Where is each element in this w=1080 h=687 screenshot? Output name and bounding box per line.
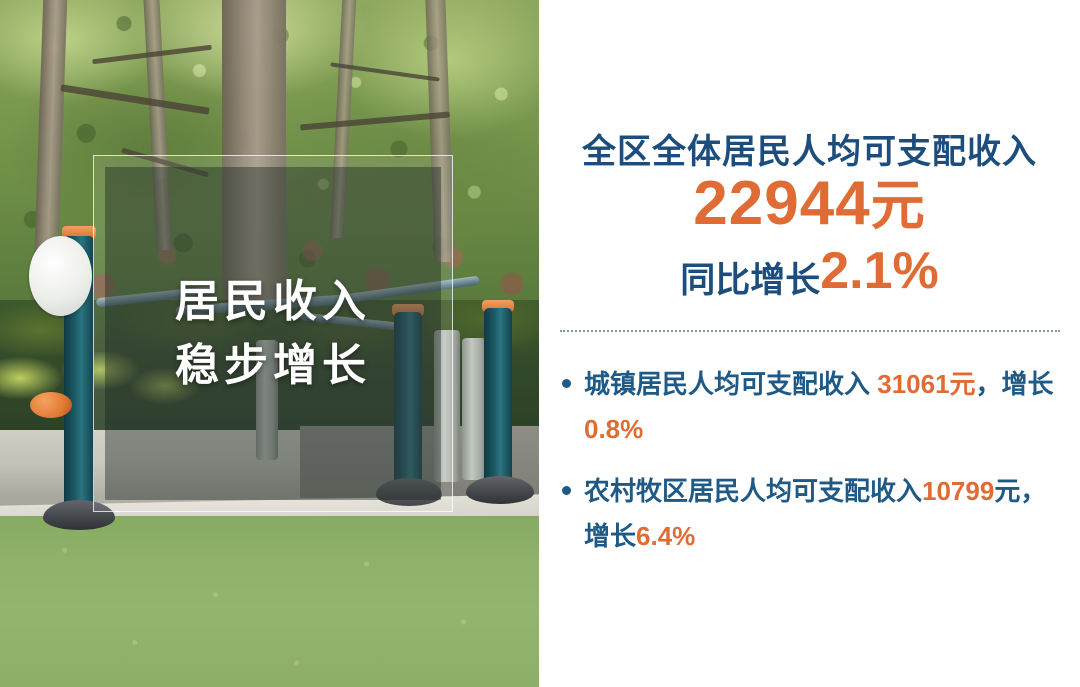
caption-text-block: 居民收入 稳步增长 [105, 167, 441, 500]
growth-label: 同比增长 [680, 261, 820, 300]
equipment-wheel [29, 236, 92, 316]
turf-texture [0, 516, 539, 687]
growth-line: 同比增长2.1% [539, 244, 1080, 300]
bullet-value-primary: 31061元 [877, 369, 975, 399]
bullet-text-mid: ，增长 [976, 369, 1054, 399]
panel-headline: 全区全体居民人均可支配收入 [539, 124, 1080, 173]
bullet-dot-icon [562, 379, 571, 388]
stats-panel: 全区全体居民人均可支配收入 22944元 同比增长2.1% 城镇居民人均可支配收… [539, 0, 1080, 687]
caption-line-2: 稳步增长 [175, 339, 371, 393]
equipment-base [466, 476, 534, 504]
bullet-text-lead: 农村牧区居民人均可支配收入 [584, 476, 922, 506]
bullet-list: 城镇居民人均可支配收入 31061元，增长0.8% 农村牧区居民人均可支配收入1… [558, 362, 1066, 577]
dotted-divider [560, 330, 1060, 332]
equipment-post [484, 308, 512, 490]
headline-figure: 22944元 [539, 170, 1080, 238]
list-item: 农村牧区居民人均可支配收入10799元，增长6.4% [558, 469, 1066, 558]
equipment-cylinder [462, 338, 486, 480]
bullet-text-lead: 城镇居民人均可支配收入 [584, 369, 877, 399]
growth-value: 2.1% [820, 242, 939, 300]
bullet-value-primary: 10799 [922, 476, 994, 506]
list-item: 城镇居民人均可支配收入 31061元，增长0.8% [558, 362, 1066, 451]
infographic-slide: 居民收入 稳步增长 全区全体居民人均可支配收入 22944元 同比增长2.1% … [0, 0, 1080, 687]
headline-figure-unit: 元 [871, 176, 926, 236]
park-photo: 居民收入 稳步增长 [0, 0, 539, 687]
bullet-value-secondary: 6.4% [636, 521, 695, 551]
bullet-dot-icon [562, 486, 571, 495]
headline-figure-value: 22944 [693, 169, 870, 238]
bullet-value-secondary: 0.8% [584, 414, 643, 444]
caption-line-1: 居民收入 [175, 275, 371, 329]
equipment-handle-knob [30, 392, 72, 418]
